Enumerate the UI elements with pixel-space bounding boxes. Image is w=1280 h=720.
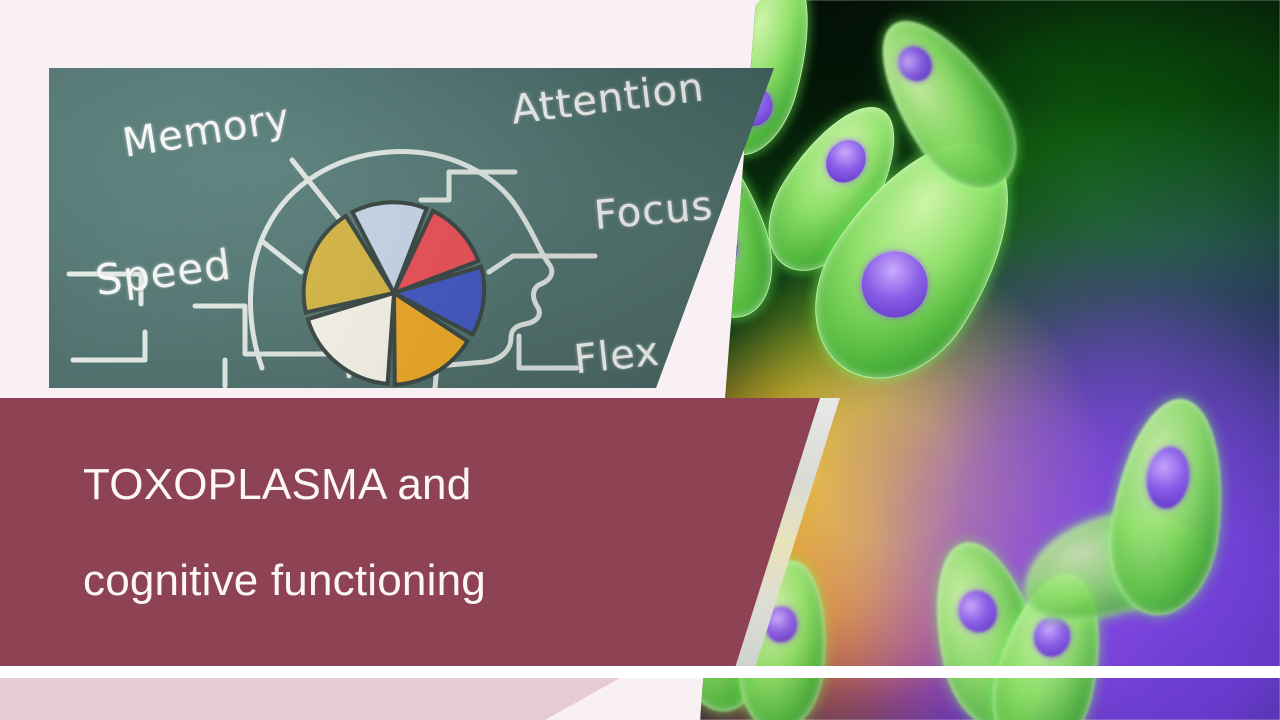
cognitive-functions-chalkboard-image: Memory Speed Attention Focus Flex <box>49 68 774 388</box>
page-title-line-1: TOXOPLASMA and <box>83 460 471 510</box>
parasite-nucleus <box>818 133 874 190</box>
parasite-nucleus <box>849 239 940 330</box>
white-divider <box>0 666 1280 678</box>
parasite-nucleus <box>954 587 1001 637</box>
toxoplasma-microscopy-image <box>700 0 1280 720</box>
chalk-label-flexibility: Flex <box>572 329 662 384</box>
title-banner <box>0 398 830 668</box>
parasite-nucleus <box>892 40 939 88</box>
parasite-nucleus <box>1030 613 1075 661</box>
background-wedge-top <box>0 0 760 70</box>
parasite-nucleus <box>1143 444 1193 511</box>
page-title-line-2: cognitive functioning <box>83 556 486 606</box>
bottom-accent-strip <box>0 678 620 720</box>
presentation-slide: Memory Speed Attention Focus Flex TOXOPL… <box>0 0 1280 720</box>
